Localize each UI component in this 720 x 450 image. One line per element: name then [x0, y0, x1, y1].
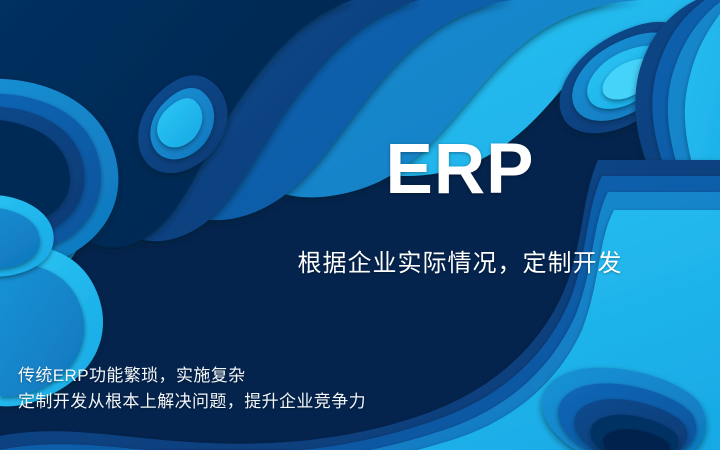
footnote-line-2: 定制开发从根本上解决问题，提升企业竞争力 [18, 389, 366, 415]
erp-promo-banner: ERP 根据企业实际情况，定制开发 传统ERP功能繁琐，实施复杂 定制开发从根本… [0, 0, 720, 450]
page-title: ERP [280, 134, 640, 205]
banner-content: ERP 根据企业实际情况，定制开发 传统ERP功能繁琐，实施复杂 定制开发从根本… [0, 0, 720, 450]
footnote-line-1: 传统ERP功能繁琐，实施复杂 [18, 363, 366, 389]
page-subtitle: 根据企业实际情况，定制开发 [280, 243, 640, 278]
footnote-block: 传统ERP功能繁琐，实施复杂 定制开发从根本上解决问题，提升企业竞争力 [18, 363, 366, 414]
